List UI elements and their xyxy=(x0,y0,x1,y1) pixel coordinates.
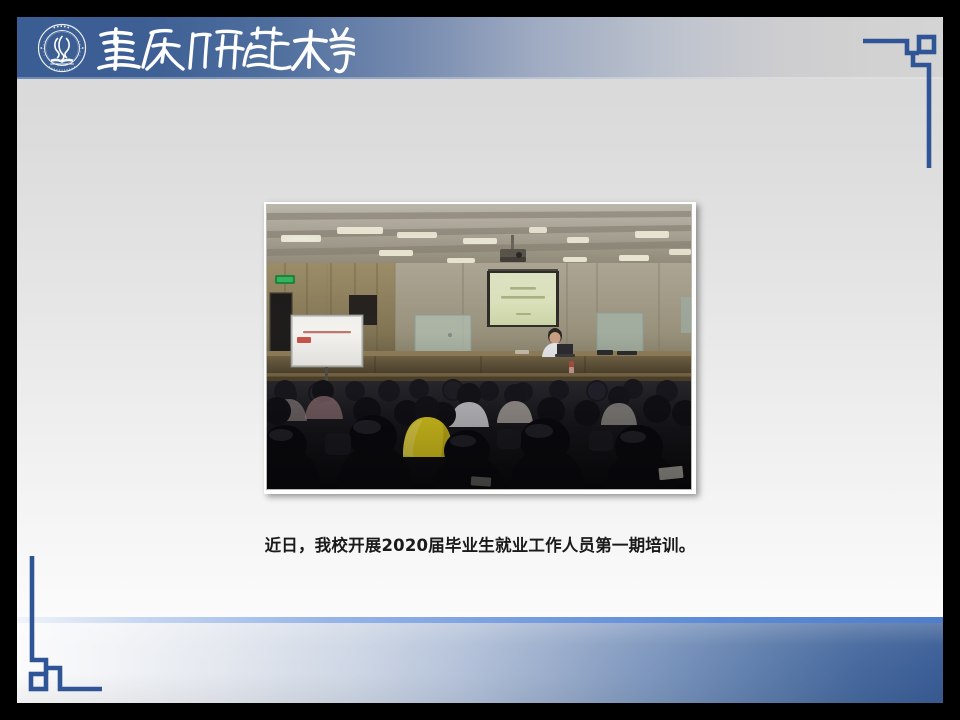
slide-canvas: 近日，我校开展2020届毕业生就业工作人员第一期培训。 xyxy=(17,17,943,703)
photo-caption: 近日，我校开展2020届毕业生就业工作人员第一期培训。 xyxy=(17,532,943,556)
corner-ornament-bottom-left-icon xyxy=(22,556,167,696)
slide-letterbox-frame: 近日，我校开展2020届毕业生就业工作人员第一期培训。 xyxy=(0,0,960,720)
university-seal-icon xyxy=(37,23,87,73)
university-wordmark xyxy=(95,22,355,74)
training-photo-image xyxy=(266,204,692,490)
corner-ornament-top-right-icon xyxy=(863,28,943,168)
header-banner xyxy=(17,17,943,79)
training-photo xyxy=(264,202,696,494)
